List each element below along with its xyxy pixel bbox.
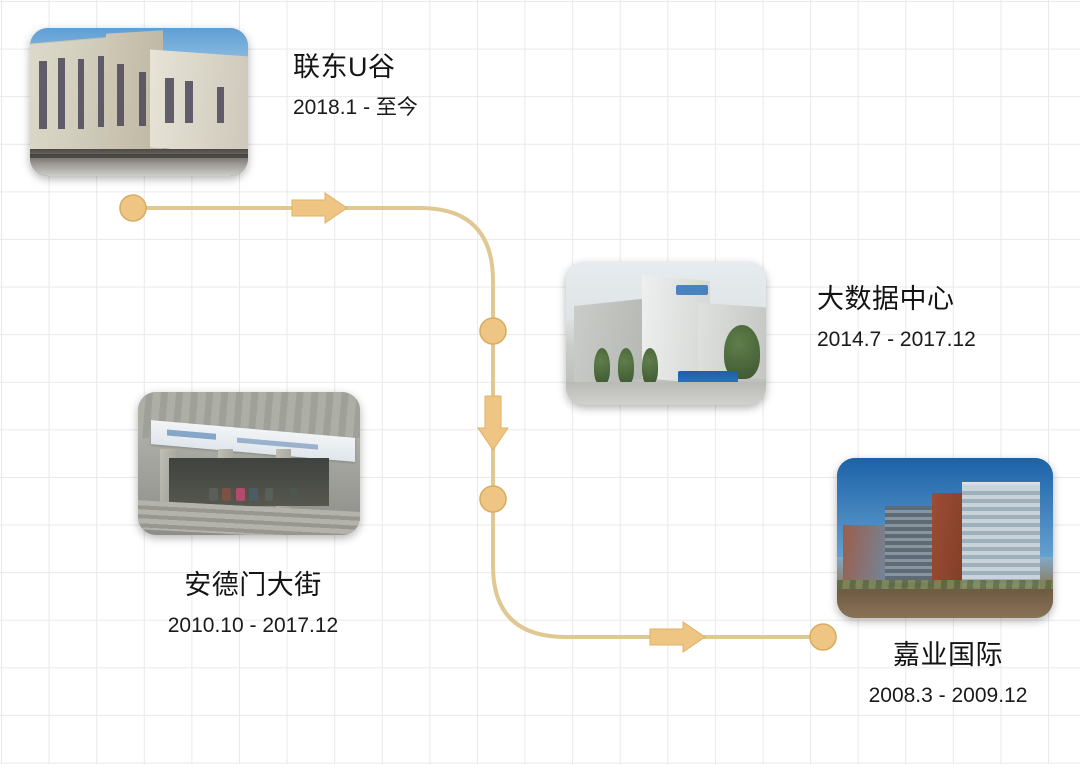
timeline-node-3[interactable] xyxy=(480,486,506,512)
label-liandong-ugu: 联东U谷 2018.1 - 至今 xyxy=(293,52,418,120)
milestone-period: 2014.7 - 2017.12 xyxy=(817,327,976,352)
label-andemen-dajie: 安德门大街 2010.10 - 2017.12 xyxy=(158,570,348,638)
milestone-title: 联东U谷 xyxy=(293,52,418,83)
photo-dashuju-zhongxin xyxy=(566,262,766,405)
photo-andemen-dajie xyxy=(138,392,360,535)
milestone-title: 嘉业国际 xyxy=(848,640,1048,671)
milestone-period: 2010.10 - 2017.12 xyxy=(158,613,348,638)
timeline-canvas: 联东U谷 2018.1 - 至今 大数据中心 2014.7 - 2017.12 xyxy=(0,0,1080,764)
milestone-title: 安德门大街 xyxy=(158,570,348,601)
photo-liandong-ugu xyxy=(30,28,248,176)
timeline-node-1[interactable] xyxy=(120,195,146,221)
arrow-down-middle xyxy=(478,396,508,450)
timeline-node-2[interactable] xyxy=(480,318,506,344)
photo-card-andemen-dajie[interactable] xyxy=(138,392,360,535)
photo-jiaye-guoji xyxy=(837,458,1053,618)
label-dashuju-zhongxin: 大数据中心 2014.7 - 2017.12 xyxy=(817,284,976,352)
arrow-right-top xyxy=(292,193,347,223)
photo-card-liandong-ugu[interactable] xyxy=(30,28,248,176)
milestone-title: 大数据中心 xyxy=(817,284,976,315)
arrow-right-bottom xyxy=(650,622,705,652)
milestone-period: 2008.3 - 2009.12 xyxy=(848,683,1048,708)
timeline-node-4[interactable] xyxy=(810,624,836,650)
photo-card-dashuju-zhongxin[interactable] xyxy=(566,262,766,405)
label-jiaye-guoji: 嘉业国际 2008.3 - 2009.12 xyxy=(848,640,1048,708)
photo-card-jiaye-guoji[interactable] xyxy=(837,458,1053,618)
milestone-period: 2018.1 - 至今 xyxy=(293,95,418,120)
